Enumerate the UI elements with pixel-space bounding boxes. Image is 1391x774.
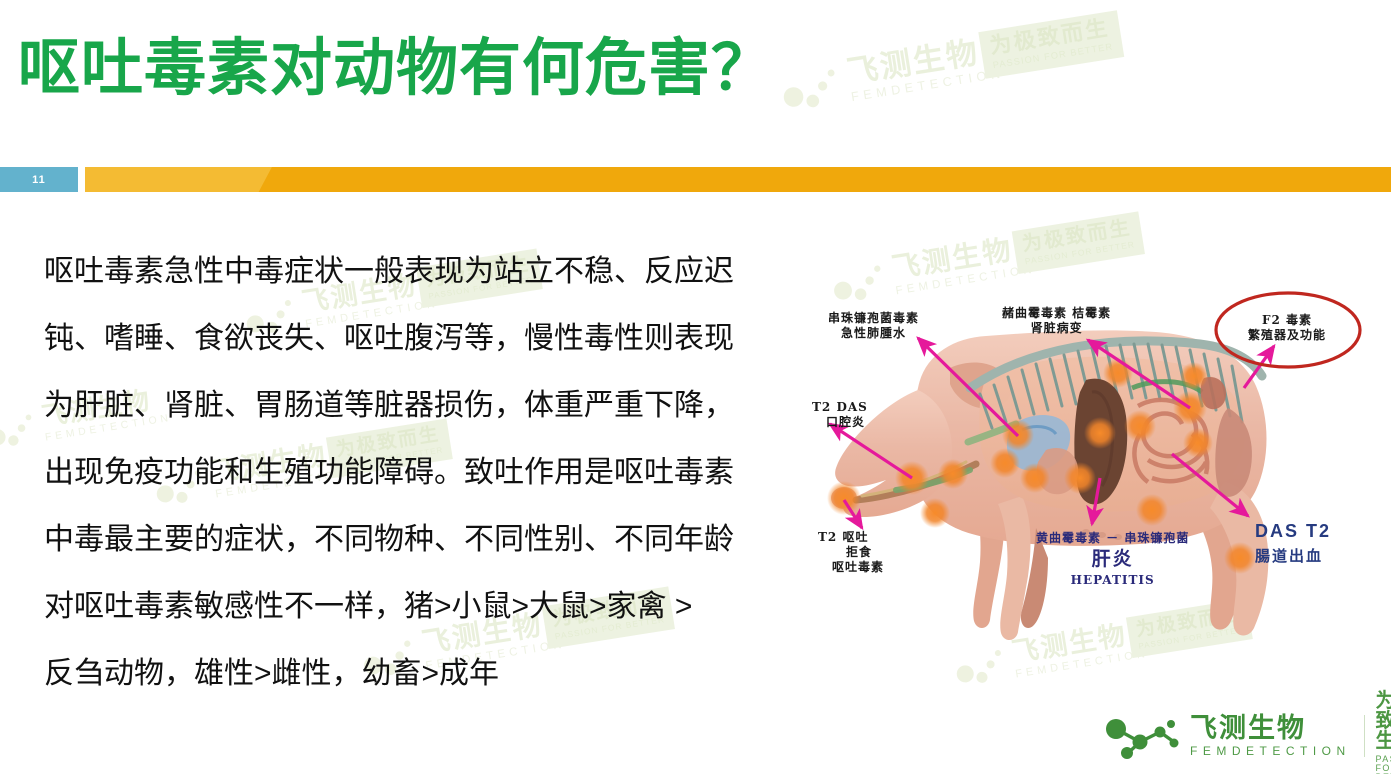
label-f2-line2: 繁殖器及功能	[1232, 328, 1342, 343]
label-t2-das-line1: T2 DAS	[812, 400, 868, 415]
watermark-en: FEMDETECTION	[850, 68, 1005, 105]
brand-tagline-en: PASSION FOR BETTER	[1375, 755, 1391, 774]
watermark-mark: 飞测生物 FEMDETECTION 为极致而生 PASSION FOR BETT…	[845, 34, 1005, 105]
label-t2-vomit-line3: 呕吐毒素	[832, 560, 884, 575]
body-line: 中毒最主要的症状，不同物种、不同性别、不同年龄	[44, 506, 784, 573]
molecule-icon	[1102, 712, 1188, 760]
brand-tagline: 为极致而生 PASSION FOR BETTER	[1375, 691, 1391, 774]
label-ochratoxin-line2: 肾脏病变	[1002, 321, 1111, 336]
body-text: 呕吐毒素急性中毒症状一般表现为站立不稳、反应迟 钝、嗜睡、食欲丧失、呕吐腹泻等，…	[44, 238, 784, 707]
pig-anatomy-illustration	[800, 228, 1391, 658]
header-rule: 11	[0, 167, 1391, 192]
label-hepatitis-line1: 黄曲霉毒素 － 串珠镰孢菌	[1036, 531, 1189, 546]
brand-tagline-cn: 为极致而生	[1375, 691, 1391, 751]
label-fumonisin-line1: 串珠镰孢菌毒素	[828, 311, 919, 326]
watermark-badge-cn: 为极致而生	[988, 17, 1112, 58]
label-f2-toxin: F2 毒素 繁殖器及功能	[1232, 313, 1342, 343]
label-ochratoxin-line1: 赭曲霉毒素 桔霉素	[1002, 306, 1111, 321]
body-line: 呕吐毒素急性中毒症状一般表现为站立不稳、反应迟	[44, 238, 784, 305]
brand-name-en: FEMDETECTION	[1190, 745, 1351, 757]
label-t2-das-line2: 口腔炎	[826, 415, 868, 430]
watermark-badge-en: PASSION FOR BETTER	[992, 42, 1114, 70]
slide-canvas: 飞测生物 FEMDETECTION 为极致而生 PASSION FOR BETT…	[0, 0, 1391, 774]
accent-bar	[85, 167, 1391, 192]
label-t2-vomit-line1: T2 呕吐	[818, 530, 884, 545]
label-f2-line1: F2 毒素	[1232, 313, 1342, 328]
label-t2-vomit-line2: 拒食	[846, 545, 884, 560]
label-hepatitis-line2: 肝炎	[1036, 548, 1189, 572]
body-line: 钝、嗜睡、食欲丧失、呕吐腹泻等，慢性毒性则表现	[44, 305, 784, 372]
watermark-badge: 为极致而生 PASSION FOR BETTER	[978, 10, 1124, 78]
brand-logo: 飞测生物 FEMDETECTION 为极致而生 PASSION FOR BETT…	[1102, 706, 1391, 766]
page-number-badge: 11	[0, 167, 78, 192]
watermark-dots-icon	[780, 65, 849, 109]
label-das-t2-line2: 腸道出血	[1255, 547, 1331, 566]
label-das-t2: DAS T2 腸道出血	[1255, 520, 1331, 565]
body-line: 反刍动物，雄性>雌性，幼畜>成年	[44, 640, 784, 707]
body-line: 出现免疫功能和生殖功能障碍。致吐作用是呕吐毒素	[44, 439, 784, 506]
label-t2-vomit: T2 呕吐 拒食 呕吐毒素	[818, 530, 884, 575]
body-line: 对呕吐毒素敏感性不一样，猪>小鼠>大鼠>家禽 >	[44, 573, 784, 640]
logo-divider	[1364, 715, 1365, 757]
label-hepatitis: 黄曲霉毒素 － 串珠镰孢菌 肝炎 HEPATITIS	[1036, 531, 1189, 588]
brand-words: 飞测生物 FEMDETECTION	[1190, 715, 1351, 757]
label-t2-das: T2 DAS 口腔炎	[812, 400, 868, 430]
label-das-t2-line1: DAS T2	[1255, 520, 1331, 543]
page-title: 呕吐毒素对动物有何危害？	[18, 36, 774, 101]
label-fumonisin-line2: 急性肺腫水	[828, 326, 919, 341]
label-fumonisin: 串珠镰孢菌毒素 急性肺腫水	[828, 311, 919, 341]
label-hepatitis-line3: HEPATITIS	[1036, 573, 1189, 588]
body-line: 为肝脏、肾脏、胃肠道等脏器损伤，体重严重下降，	[44, 372, 784, 439]
label-ochratoxin: 赭曲霉毒素 桔霉素 肾脏病变	[1002, 306, 1111, 336]
watermark-dots-icon	[0, 411, 43, 447]
pig-anatomy-figure: 串珠镰孢菌毒素 急性肺腫水 赭曲霉毒素 桔霉素 肾脏病变 F2 毒素 繁殖器及功…	[800, 228, 1391, 658]
brand-name-cn: 飞测生物	[1190, 715, 1351, 742]
watermark-cn: 飞测生物	[845, 34, 1003, 89]
